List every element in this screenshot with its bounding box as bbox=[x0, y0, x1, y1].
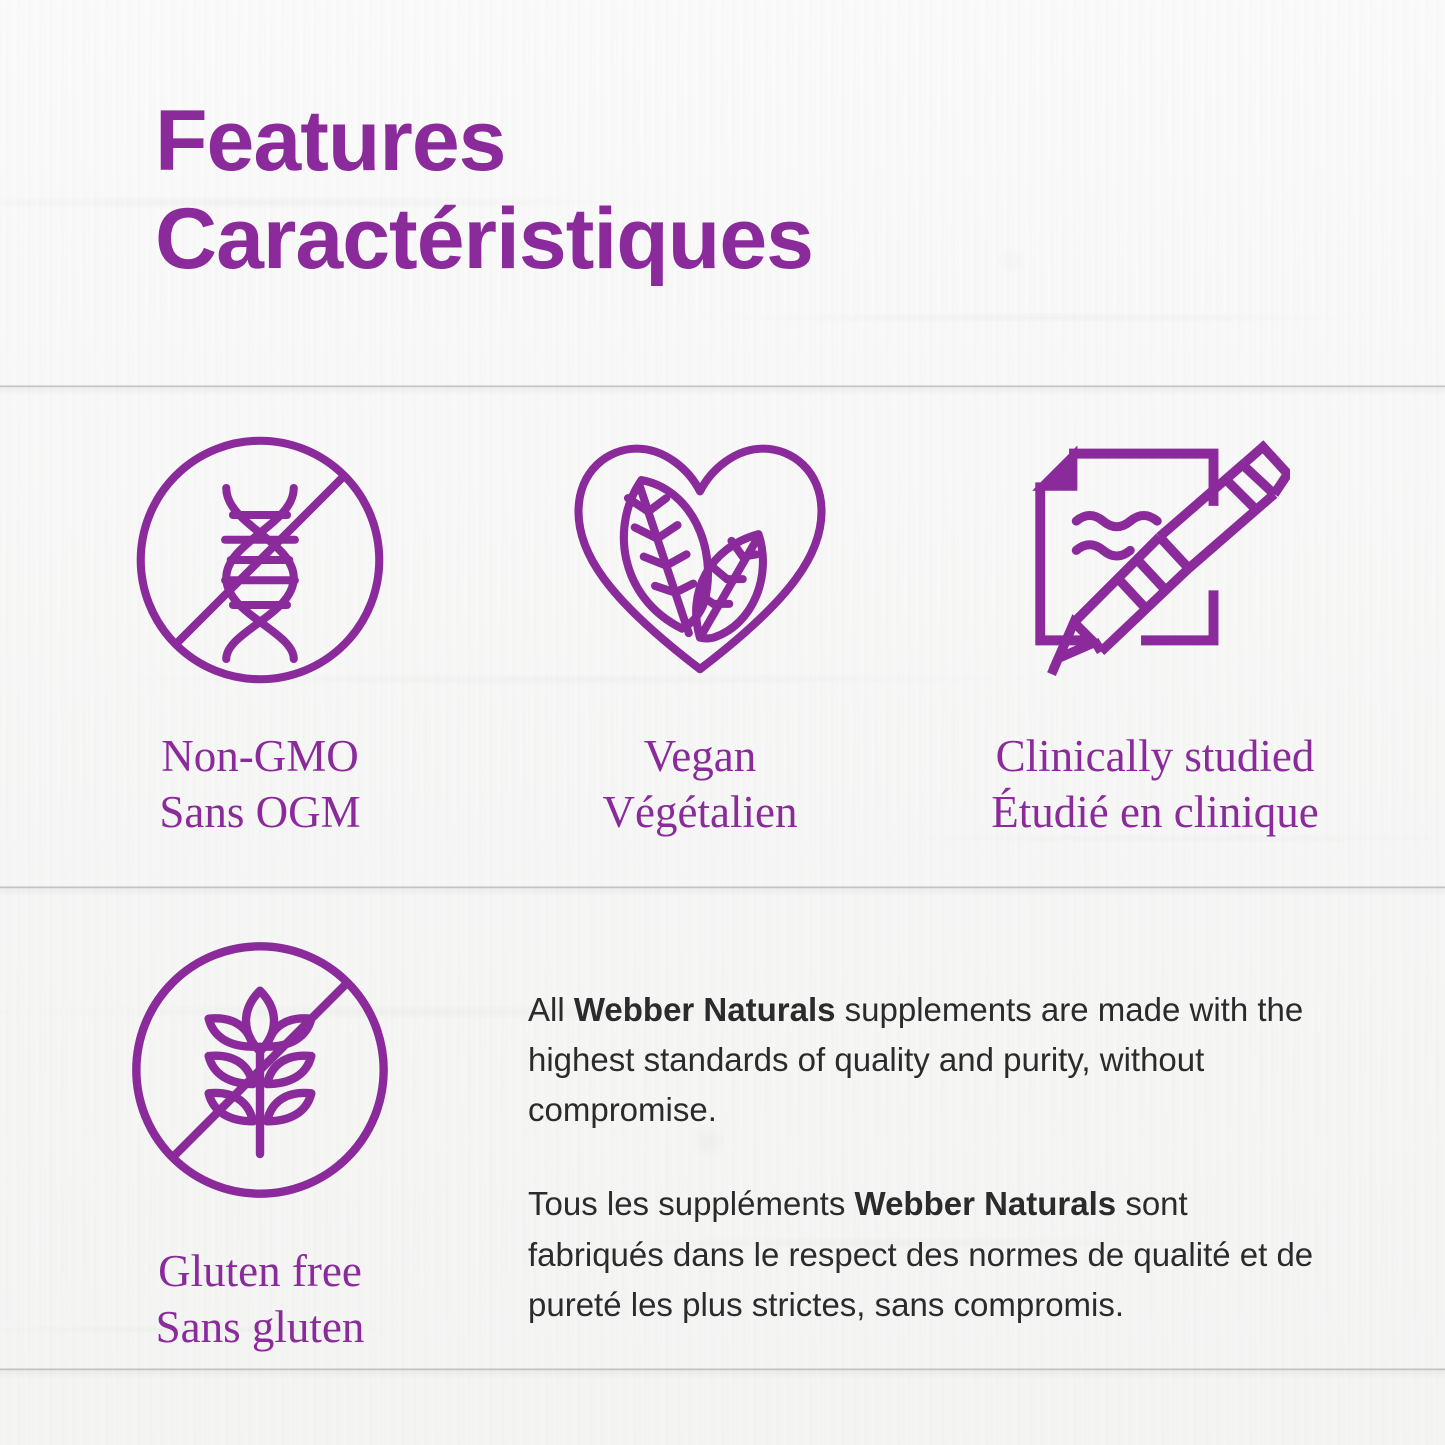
feature-label-fr: Végétalien bbox=[603, 784, 798, 840]
feature-non-gmo: Non-GMO Sans OGM bbox=[40, 420, 480, 841]
page-title-fr: Caractéristiques bbox=[155, 196, 1275, 282]
brand-copy: All Webber Naturals supplements are made… bbox=[528, 985, 1328, 1356]
feature-row-bottom: Gluten free Sans gluten All Webber Natur… bbox=[0, 925, 1445, 1356]
features-panel: Features Caractéristiques bbox=[0, 0, 1445, 1445]
copy-fr-brand: Webber Naturals bbox=[855, 1185, 1117, 1222]
feature-label-fr: Étudié en clinique bbox=[991, 784, 1318, 840]
copy-fr-before: Tous les suppléments bbox=[528, 1185, 855, 1222]
plank-seam-3 bbox=[0, 1368, 1445, 1371]
plank-seam-1 bbox=[0, 385, 1445, 388]
copy-en-brand: Webber Naturals bbox=[574, 991, 836, 1028]
feature-vegan: Vegan Végétalien bbox=[510, 420, 890, 841]
feature-label-fr: Sans gluten bbox=[156, 1299, 365, 1355]
plank-seam-2 bbox=[0, 886, 1445, 889]
page-title-en: Features bbox=[155, 98, 1275, 184]
feature-label-en: Non-GMO bbox=[159, 728, 360, 784]
feature-gluten-free: Gluten free Sans gluten bbox=[40, 925, 480, 1356]
copy-en-before: All bbox=[528, 991, 574, 1028]
brand-copy-en: All Webber Naturals supplements are made… bbox=[528, 985, 1328, 1135]
feature-label-en: Vegan bbox=[603, 728, 798, 784]
feature-label-vegan: Vegan Végétalien bbox=[603, 728, 798, 841]
gluten-free-wheat-icon bbox=[120, 925, 400, 1215]
clinically-studied-clipboard-pen-icon bbox=[1020, 420, 1290, 700]
feature-label-gluten-free: Gluten free Sans gluten bbox=[156, 1243, 365, 1356]
feature-label-en: Gluten free bbox=[156, 1243, 365, 1299]
no-gmo-dna-icon bbox=[125, 420, 395, 700]
feature-label-non-gmo: Non-GMO Sans OGM bbox=[159, 728, 360, 841]
vegan-heart-leaf-icon bbox=[565, 420, 835, 700]
feature-label-fr: Sans OGM bbox=[159, 784, 360, 840]
feature-label-clinically-studied: Clinically studied Étudié en clinique bbox=[991, 728, 1318, 841]
feature-label-en: Clinically studied bbox=[991, 728, 1318, 784]
brand-copy-fr: Tous les suppléments Webber Naturals son… bbox=[528, 1179, 1328, 1329]
feature-row-top: Non-GMO Sans OGM bbox=[0, 420, 1445, 841]
feature-clinically-studied: Clinically studied Étudié en clinique bbox=[920, 420, 1390, 841]
page-header: Features Caractéristiques bbox=[155, 98, 1275, 282]
